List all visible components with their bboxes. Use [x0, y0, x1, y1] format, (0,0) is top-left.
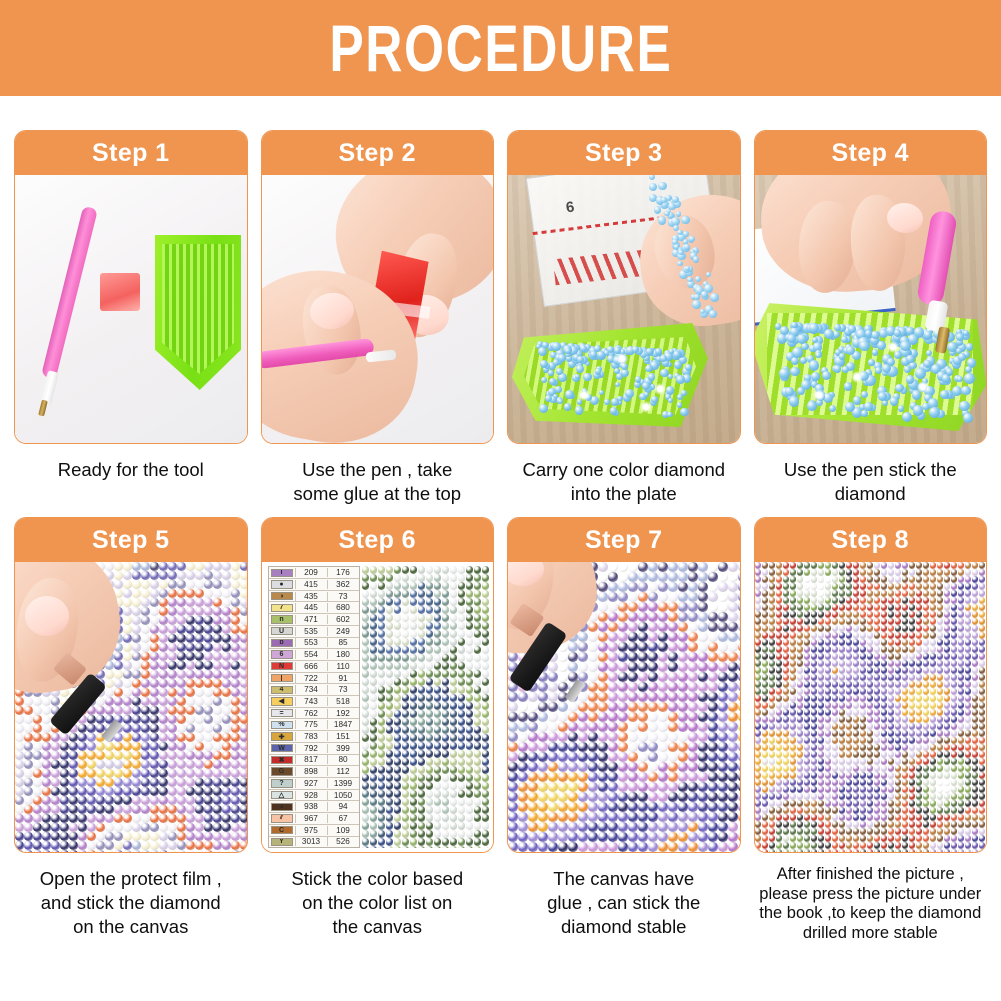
diamond-bead: [804, 807, 811, 814]
diamond-bead: [688, 592, 698, 602]
diamond-bead: [568, 742, 578, 752]
diamond-bead: [776, 646, 783, 653]
diamond-bead: [881, 744, 888, 751]
diamond-bead: [638, 652, 648, 662]
diamond-bead: [402, 574, 410, 582]
diamond-bead: [895, 674, 902, 681]
diamond-bead: [402, 678, 410, 686]
diamond-bead: [698, 742, 708, 752]
diamond-bead: [458, 606, 466, 614]
color-symbol-swatch: 4: [271, 686, 293, 694]
diamond-bead: [105, 787, 114, 796]
diamond-bead: [755, 849, 762, 852]
diamond-bead: [114, 787, 123, 796]
diamond-bead: [937, 611, 944, 618]
diamond-bead: [972, 800, 979, 807]
diamond-bead: [538, 712, 548, 722]
diamond-bead: [538, 802, 548, 812]
diamond-bead: [881, 807, 888, 814]
diamond-bead: [825, 632, 832, 639]
diamond-bead: [979, 709, 986, 716]
diamond-bead: [839, 562, 846, 569]
diamond-bead: [804, 688, 811, 695]
diamond-bead: [965, 576, 972, 583]
diamond-bead: [668, 722, 678, 732]
color-chart-row: 6554180: [269, 649, 359, 661]
diamond-bead: [825, 723, 832, 730]
diamond-bead: [738, 762, 740, 772]
diamond-bead: [442, 654, 450, 662]
diamond-bead: [638, 582, 648, 592]
diamond-bead: [159, 634, 168, 643]
diamond-bead: [231, 832, 240, 841]
diamond-bead: [628, 772, 638, 782]
diamond-bead: [474, 670, 482, 678]
diamond-bead: [888, 800, 895, 807]
color-code-cell: 967: [295, 814, 327, 823]
diamond-bead: [87, 760, 96, 769]
diamond-bead: [105, 778, 114, 787]
diamond-bead: [658, 632, 668, 642]
diamond-bead: [972, 569, 979, 576]
diamond-bead: [902, 779, 909, 786]
diamond-bead: [979, 751, 986, 758]
diamond-bead: [386, 822, 394, 830]
diamond-bead: [442, 574, 450, 582]
diamond-bead: [937, 681, 944, 688]
diamond-bead: [776, 730, 783, 737]
diamond-bead: [965, 674, 972, 681]
diamond-bead: [979, 688, 986, 695]
diamond-bead: [979, 779, 986, 786]
diamond-bead: [123, 697, 132, 706]
diamond-bead: [930, 828, 937, 835]
diamond-bead: [972, 653, 979, 660]
diamond-bead: [986, 779, 987, 786]
diamond-bead: [909, 786, 916, 793]
diamond-bead: [466, 646, 474, 654]
diamond-bead: [598, 742, 608, 752]
diamond-bead: [394, 758, 402, 766]
color-count-cell: 67: [327, 814, 359, 823]
diamond-bead: [370, 742, 378, 750]
diamond-bead: [986, 625, 987, 632]
diamond-bead: [578, 652, 588, 662]
diamond-bead: [69, 814, 78, 823]
diamond-bead: [923, 688, 930, 695]
diamond-bead: [150, 805, 159, 814]
diamond-bead: [426, 614, 434, 622]
diamond-bead: [909, 793, 916, 800]
diamond-bead: [881, 611, 888, 618]
diamond-bead: [548, 682, 558, 692]
diamond-bead: [769, 583, 776, 590]
diamond-bead: [402, 822, 410, 830]
diamond-bead: [434, 710, 442, 718]
diamond-bead: [362, 686, 370, 694]
diamond-bead: [482, 630, 490, 638]
diamond-bead: [222, 706, 231, 715]
diamond-bead: [15, 742, 24, 751]
diamond-bead: [797, 639, 804, 646]
diamond-bead: [839, 583, 846, 590]
diamond-bead: [442, 630, 450, 638]
diamond-bead: [78, 787, 87, 796]
diamond-bead: [195, 850, 204, 852]
diamond-bead: [482, 830, 490, 838]
step-label-4: Step 4: [832, 139, 909, 168]
diamond-bead: [909, 618, 916, 625]
color-count-cell: 192: [327, 709, 359, 718]
diamond-bead: [718, 822, 728, 832]
diamond-bead: [762, 660, 769, 667]
diamond-bead: [186, 562, 195, 571]
diamond-bead: [979, 653, 986, 660]
step-panel-8: Step 8: [754, 517, 988, 853]
diamond-bead: [204, 814, 213, 823]
diamond-bead: [177, 589, 186, 598]
diamond-bead: [410, 694, 418, 702]
diamond-bead: [986, 597, 987, 604]
diamond-bead: [177, 706, 186, 715]
diamond-bead: [937, 716, 944, 723]
diamond-bead: [986, 849, 987, 852]
step-caption-3: Carry one color diamond into the plate: [520, 444, 727, 505]
diamond-bead: [846, 695, 853, 702]
diamond-bead: [860, 709, 867, 716]
diamond-bead: [204, 688, 213, 697]
diamond-bead: [790, 702, 797, 709]
color-code-cell: 435: [295, 592, 327, 601]
diamond-bead: [518, 692, 528, 702]
diamond-bead: [708, 682, 718, 692]
diamond-bead: [881, 842, 888, 849]
diamond-bead: [930, 674, 937, 681]
diamond-bead: [394, 782, 402, 790]
diamond-bead: [853, 611, 860, 618]
diamond-bead: [888, 590, 895, 597]
diamond-bead: [168, 607, 177, 616]
diamond-bead: [186, 733, 195, 742]
diamond-bead: [853, 716, 860, 723]
diamond-bead: [658, 762, 668, 772]
diamond-bead: [923, 800, 930, 807]
diamond-bead: [177, 778, 186, 787]
diamond-bead: [578, 642, 588, 652]
diamond-bead: [902, 751, 909, 758]
diamond-bead: [668, 592, 678, 602]
diamond-bead: [658, 562, 668, 572]
diamond-bead: [972, 716, 979, 723]
diamond-bead: [482, 774, 490, 782]
diamond-bead: [418, 726, 426, 734]
diamond-bead: [958, 604, 965, 611]
diamond-bead: [598, 652, 608, 662]
diamond-bead: [867, 639, 874, 646]
diamond-bead: [105, 796, 114, 805]
diamond-bead: [916, 674, 923, 681]
diamond-bead: [578, 662, 588, 672]
diamond-bead: [860, 723, 867, 730]
diamond-bead: [132, 733, 141, 742]
diamond-bead: [790, 800, 797, 807]
diamond-bead: [832, 688, 839, 695]
diamond-bead: [588, 772, 598, 782]
diamond-bead: [818, 709, 825, 716]
diamond-bead: [979, 702, 986, 709]
diamond-bead: [60, 805, 69, 814]
diamond-bead: [888, 702, 895, 709]
diamond-bead: [839, 716, 846, 723]
diamond-bead: [718, 702, 728, 712]
diamond-bead: [846, 681, 853, 688]
diamond-bead: [811, 562, 818, 569]
diamond-bead: [418, 694, 426, 702]
diamond-bead: [378, 614, 386, 622]
diamond-bead: [839, 569, 846, 576]
diamond-bead: [213, 571, 222, 580]
diamond-bead: [177, 616, 186, 625]
diamond-bead: [426, 790, 434, 798]
diamond-bead: [177, 733, 186, 742]
diamond-bead: [394, 702, 402, 710]
diamond-bead: [930, 702, 937, 709]
diamond-bead: [776, 737, 783, 744]
diamond-bead: [195, 589, 204, 598]
diamond-bead: [508, 792, 518, 802]
diamond-bead: [839, 639, 846, 646]
diamond-bead: [378, 654, 386, 662]
diamond-bead: [909, 835, 916, 842]
color-symbol-swatch: ⫽: [271, 814, 293, 822]
diamond-bead: [474, 638, 482, 646]
diamond-bead: [518, 772, 528, 782]
diamond-bead: [708, 822, 718, 832]
diamond-bead: [972, 709, 979, 716]
diamond-bead: [951, 660, 958, 667]
step-label-1: Step 1: [92, 139, 169, 168]
diamond-bead: [797, 779, 804, 786]
diamond-bead: [33, 760, 42, 769]
diamond-bead: [776, 814, 783, 821]
diamond-bead: [386, 686, 394, 694]
diamond-bead: [881, 779, 888, 786]
diamond-bead: [638, 692, 648, 702]
diamond-bead: [832, 576, 839, 583]
diamond-bead: [402, 774, 410, 782]
diamond-bead: [986, 828, 987, 835]
diamond-bead: [776, 695, 783, 702]
diamond-bead: [458, 630, 466, 638]
diamond-bead: [986, 737, 987, 744]
diamond-bead: [394, 678, 402, 686]
diamond-bead: [402, 790, 410, 798]
diamond-bead: [213, 697, 222, 706]
diamond-bead: [860, 632, 867, 639]
diamond-bead: [168, 625, 177, 634]
diamond-bead: [114, 697, 123, 706]
diamond-bead: [141, 580, 150, 589]
diamond-bead: [811, 688, 818, 695]
diamond-bead: [394, 670, 402, 678]
diamond-bead: [698, 622, 708, 632]
diamond-bead: [972, 583, 979, 590]
diamond-bead: [114, 751, 123, 760]
diamond-bead: [168, 688, 177, 697]
diamond-bead: [518, 802, 528, 812]
diamond-bead: [832, 849, 839, 852]
diamond-bead: [832, 772, 839, 779]
diamond-bead: [860, 576, 867, 583]
diamond-bead: [105, 751, 114, 760]
diamond-bead: [474, 702, 482, 710]
diamond-bead: [426, 566, 434, 574]
color-symbol-swatch: n: [271, 615, 293, 623]
diamond-bead: [628, 572, 638, 582]
diamond-bead: [965, 709, 972, 716]
diamond-bead: [881, 590, 888, 597]
diamond-bead: [568, 762, 578, 772]
diamond-bead: [888, 835, 895, 842]
diamond-bead: [186, 679, 195, 688]
color-chart-row: 393894: [269, 801, 359, 813]
diamond-bead: [442, 766, 450, 774]
diamond-bead: [790, 667, 797, 674]
diamond-bead: [450, 694, 458, 702]
diamond-bead: [362, 710, 370, 718]
diamond-bead: [937, 828, 944, 835]
diamond-bead: [482, 590, 490, 598]
diamond-bead: [402, 614, 410, 622]
diamond-bead: [860, 800, 867, 807]
diamond-bead: [811, 590, 818, 597]
diamond-bead: [378, 718, 386, 726]
diamond-bead: [738, 592, 740, 602]
diamond-bead: [418, 646, 426, 654]
diamond-bead: [370, 678, 378, 686]
diamond-bead: [482, 582, 490, 590]
diamond-bead: [951, 779, 958, 786]
diamond-bead: [881, 702, 888, 709]
diamond-bead: [762, 646, 769, 653]
diamond-bead: [818, 653, 825, 660]
diamond-bead: [69, 796, 78, 805]
diamond-bead: [951, 653, 958, 660]
diamond-bead: [15, 715, 24, 724]
diamond-bead: [811, 646, 818, 653]
diamond-bead: [668, 782, 678, 792]
diamond-bead: [867, 744, 874, 751]
diamond-bead: [698, 702, 708, 712]
diamond-bead: [678, 662, 688, 672]
diamond-bead: [797, 611, 804, 618]
diamond-bead: [105, 742, 114, 751]
step-label-5: Step 5: [92, 526, 169, 555]
diamond-bead: [769, 660, 776, 667]
diamond-bead: [114, 814, 123, 823]
diamond-bead: [783, 597, 790, 604]
diamond-bead: [738, 712, 740, 722]
diamond-bead: [648, 722, 658, 732]
diamond-bead: [846, 639, 853, 646]
diamond-bead: [434, 782, 442, 790]
diamond-bead: [874, 821, 881, 828]
diamond-bead: [141, 751, 150, 760]
diamond-bead: [811, 786, 818, 793]
diamond-bead: [378, 846, 386, 848]
diamond-bead: [474, 750, 482, 758]
diamond-bead: [958, 597, 965, 604]
diamond-bead: [811, 723, 818, 730]
diamond-bead: [426, 814, 434, 822]
diamond-bead: [728, 732, 738, 742]
diamond-bead: [888, 688, 895, 695]
diamond-bead: [578, 832, 588, 842]
diamond-bead: [930, 842, 937, 849]
diamond-bead: [450, 814, 458, 822]
diamond-bead: [668, 752, 678, 762]
diamond-bead: [132, 661, 141, 670]
diamond-bead: [972, 751, 979, 758]
diamond-bead: [951, 618, 958, 625]
diamond-bead: [159, 724, 168, 733]
diamond-bead: [458, 574, 466, 582]
diamond-bead: [797, 695, 804, 702]
diamond-bead: [186, 850, 195, 852]
diamond-bead: [386, 598, 394, 606]
diamond-bead: [783, 618, 790, 625]
step-card-1: Step 1 Ready for the tool: [14, 130, 248, 505]
diamond-bead: [965, 730, 972, 737]
diamond-bead: [958, 730, 965, 737]
diamond-bead: [755, 737, 762, 744]
diamond-bead: [123, 580, 132, 589]
diamond-bead: [923, 660, 930, 667]
diamond-bead: [394, 606, 402, 614]
diamond-bead: [916, 835, 923, 842]
diamond-bead: [853, 793, 860, 800]
diamond-bead: [558, 792, 568, 802]
diamond-bead: [790, 653, 797, 660]
diamond-bead: [874, 695, 881, 702]
diamond-bead: [177, 607, 186, 616]
diamond-bead: [608, 842, 618, 852]
diamond-bead: [426, 710, 434, 718]
step-panel-1: Step 1: [14, 130, 248, 444]
diamond-bead: [386, 726, 394, 734]
diamond-bead: [33, 769, 42, 778]
diamond-bead: [213, 598, 222, 607]
diamond-bead: [105, 841, 114, 850]
diamond-bead: [958, 569, 965, 576]
diamond-bead: [362, 630, 370, 638]
diamond-bead: [818, 758, 825, 765]
diamond-bead: [442, 606, 450, 614]
diamond-bead: [177, 562, 186, 571]
diamond-bead: [410, 662, 418, 670]
diamond-bead: [728, 622, 738, 632]
diamond-bead: [87, 823, 96, 832]
diamond-bead: [141, 742, 150, 751]
diamond-bead: [986, 814, 987, 821]
diamond-bead: [755, 688, 762, 695]
diamond-bead: [434, 846, 442, 848]
diamond-bead: [846, 674, 853, 681]
diamond-bead: [846, 611, 853, 618]
diamond-bead: [951, 758, 958, 765]
diamond-bead: [15, 832, 24, 841]
diamond-bead: [958, 737, 965, 744]
